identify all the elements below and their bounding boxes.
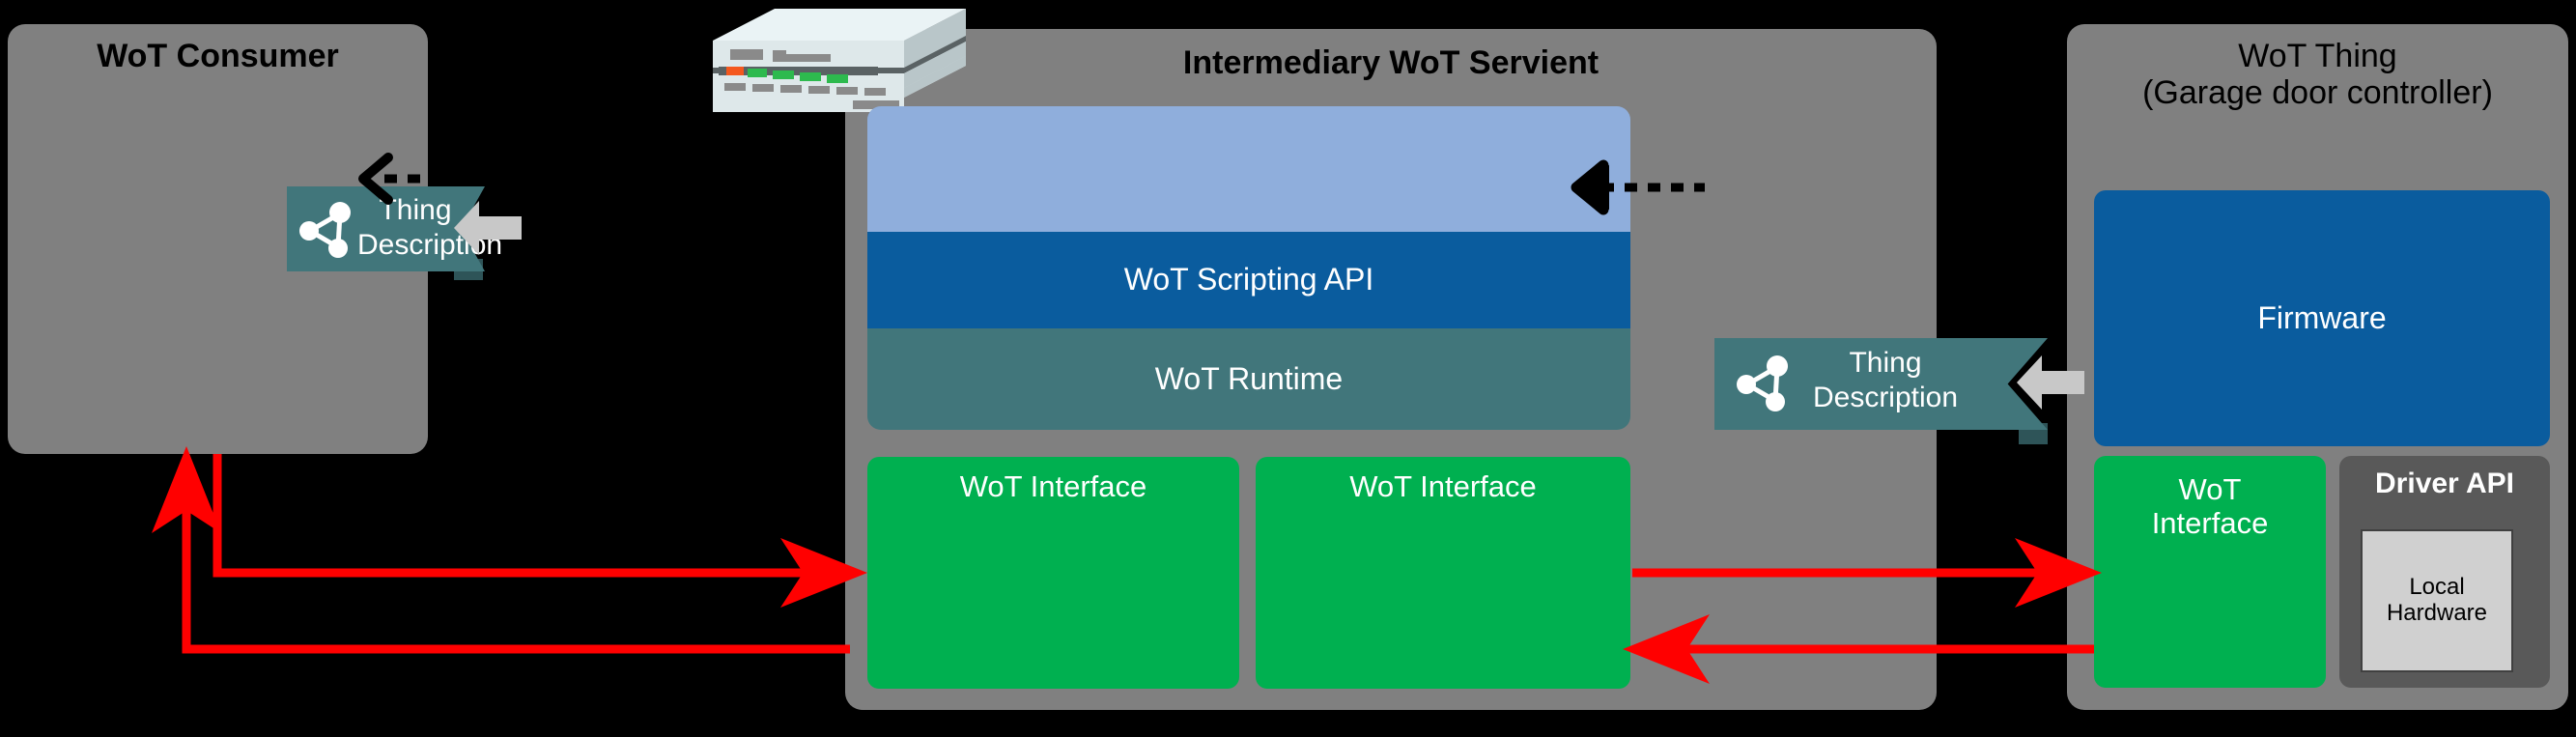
servient-scripting-api-layer[interactable]: WoT Scripting API (867, 232, 1630, 328)
servient-scripting-api-label: WoT Scripting API (867, 263, 1630, 298)
servient-application-logic-layer[interactable] (867, 106, 1630, 232)
red-arrow-servient-to-consumer (186, 464, 850, 649)
servient-wot-interface-left[interactable]: WoT Interface (867, 457, 1239, 689)
wot-consumer-title: WoT Consumer (8, 38, 428, 74)
dashed-arrow-to-servient (1555, 157, 1705, 217)
dashed-arrow-to-consumer (348, 150, 478, 208)
thing-firmware-label: Firmware (2094, 301, 2550, 336)
share-network-icon-left (297, 200, 356, 260)
wot-thing-title-line2: (Garage door controller) (2067, 74, 2568, 111)
thing-wot-interface-label: WoT Interface (2094, 473, 2326, 540)
share-network-icon-right (1734, 354, 1794, 413)
thing-local-hardware-box[interactable]: Local Hardware (2361, 529, 2513, 672)
wot-thing-title-group: WoT Thing (Garage door controller) (2067, 38, 2568, 111)
intermediary-servient-title: Intermediary WoT Servient (845, 44, 1937, 81)
thing-driver-api-label: Driver API (2339, 468, 2550, 500)
servient-wot-interface-left-label: WoT Interface (867, 470, 1239, 504)
servient-wot-interface-right[interactable]: WoT Interface (1256, 457, 1630, 689)
td-right-gray-arrow-icon (2017, 353, 2084, 412)
thing-local-hardware-label: Local Hardware (2363, 575, 2511, 627)
diagram-canvas: WoT Consumer Intermediary WoT Servient (0, 0, 2576, 737)
thing-firmware-box[interactable]: Firmware (2094, 190, 2550, 446)
servient-wot-interface-right-label: WoT Interface (1256, 470, 1630, 504)
red-arrow-consumer-to-servient (217, 454, 850, 573)
servient-runtime-label: WoT Runtime (867, 362, 1630, 397)
servient-runtime-layer[interactable]: WoT Runtime (867, 328, 1630, 430)
thing-description-label-right: Thing Description (1798, 346, 1972, 415)
thing-wot-interface-box[interactable]: WoT Interface (2094, 456, 2326, 688)
wot-thing-title-line1: WoT Thing (2067, 38, 2568, 74)
